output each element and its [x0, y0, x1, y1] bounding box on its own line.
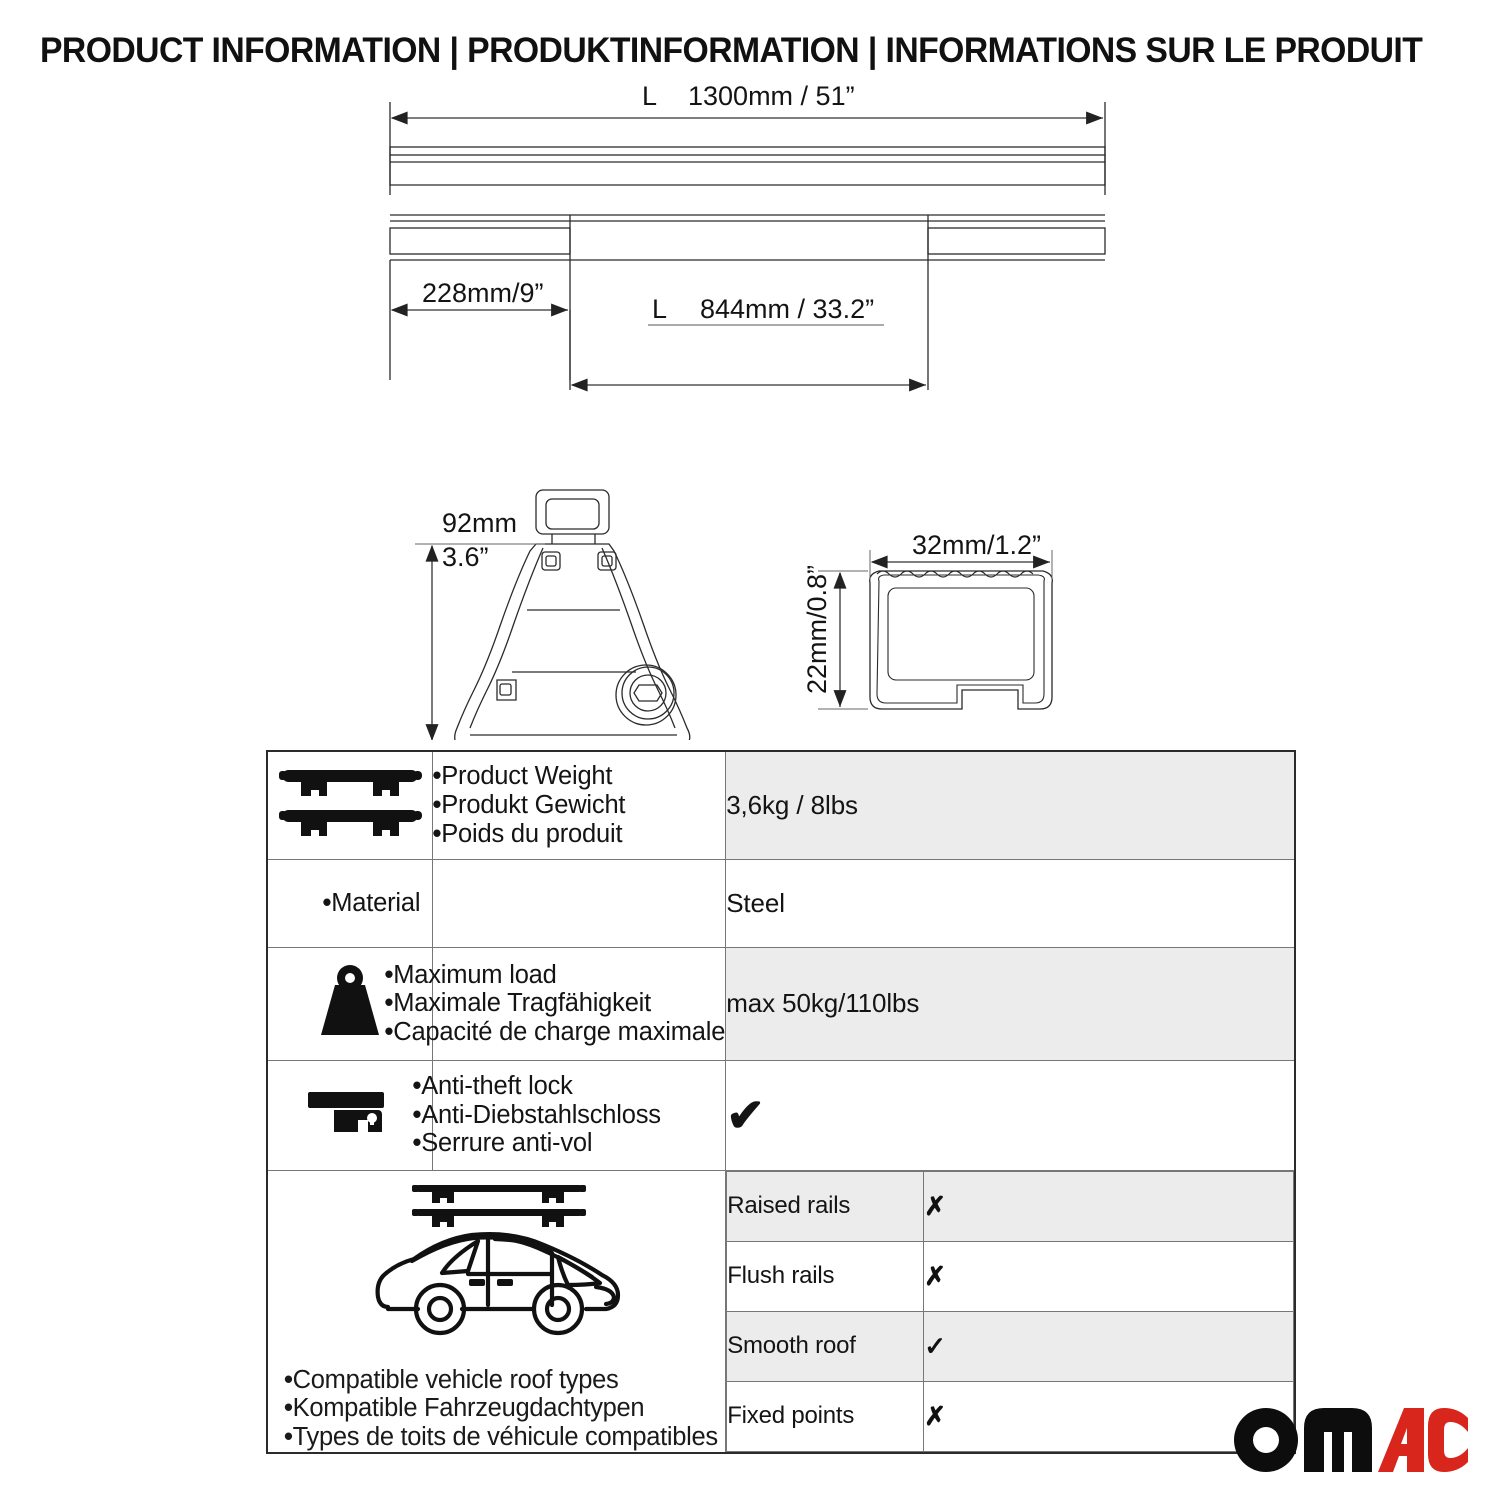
label-fr: Poids du produit — [441, 820, 622, 848]
dim-bar-length: 1300mm / 51” — [688, 81, 855, 111]
dim-span: 844mm / 33.2” — [700, 294, 874, 324]
label-en: Maximum load — [393, 961, 556, 989]
roof-type-row: Flush rails ✗ — [727, 1241, 1294, 1311]
label-de: Kompatible Fahrzeugdachtypen — [293, 1394, 645, 1422]
roof-type-subtable: Raised rails ✗ Flush rails ✗ Smooth roof… — [726, 1171, 1294, 1452]
product-weight-value: 3,6kg / 8lbs — [726, 751, 1295, 859]
label-fr: Capacité de charge maximale — [393, 1018, 725, 1046]
omac-logo-mark — [1232, 1404, 1470, 1476]
check-icon: ✔ — [726, 1089, 764, 1141]
table-row: •Compatible vehicle roof types •Kompatib… — [267, 1170, 1295, 1453]
anti-theft-labels: •Anti-theft lock •Anti-Diebstahlschloss … — [432, 1060, 726, 1170]
omac-logo — [1232, 1404, 1470, 1476]
car-with-roof-bars-icon — [356, 1334, 638, 1351]
roof-type-row: Fixed points ✗ — [727, 1381, 1294, 1451]
anti-theft-value: ✔ — [726, 1060, 1295, 1170]
roof-type-name: Flush rails — [727, 1241, 924, 1311]
roof-type-row: Raised rails ✗ — [727, 1171, 1294, 1241]
label-de: Produkt Gewicht — [441, 791, 625, 819]
label-fr: Types de toits de véhicule compatibles — [293, 1423, 718, 1451]
table-row: •Product Weight •Produkt Gewicht •Poids … — [267, 751, 1295, 859]
label-en: Material — [331, 889, 420, 917]
compat-left-cell: •Compatible vehicle roof types •Kompatib… — [267, 1170, 726, 1453]
page-title: PRODUCT INFORMATION | PRODUKTINFORMATION… — [40, 30, 1422, 71]
product-weight-icon-cell — [267, 751, 432, 859]
product-spec-table: •Product Weight •Produkt Gewicht •Poids … — [266, 750, 1296, 1454]
material-value: Steel — [726, 859, 1295, 947]
max-load-value: max 50kg/110lbs — [726, 947, 1295, 1060]
max-load-labels: •Maximum load •Maximale Tragfähigkeit •C… — [432, 947, 726, 1060]
label-de: Anti-Diebstahlschloss — [421, 1101, 661, 1129]
roof-type-name: Smooth roof — [727, 1311, 924, 1381]
weight-icon — [313, 1026, 387, 1043]
compat-icon-wrap — [268, 1171, 725, 1362]
lock-icon — [304, 1131, 396, 1148]
label-fr: Serrure anti-vol — [421, 1129, 592, 1157]
dim-profile-height: 22mm/0.8” — [802, 565, 832, 694]
anti-theft-icon-cell — [267, 1060, 432, 1170]
compat-options-cell: Raised rails ✗ Flush rails ✗ Smooth roof… — [726, 1170, 1295, 1453]
two-roof-bars-icon — [275, 829, 425, 846]
roof-type-mark: ✗ — [924, 1241, 1294, 1311]
product-weight-labels: •Product Weight •Produkt Gewicht •Poids … — [432, 751, 726, 859]
page-header: PRODUCT INFORMATION | PRODUKTINFORMATION… — [40, 26, 1470, 74]
dim-foot-height-mm: 92mm — [442, 508, 517, 538]
dim-foot-offset: 228mm/9” — [422, 278, 544, 308]
roof-type-row: Smooth roof ✓ — [727, 1311, 1294, 1381]
label-en: Product Weight — [441, 762, 612, 790]
dim-foot-height-in: 3.6” — [442, 542, 489, 572]
roof-type-mark: ✓ — [924, 1311, 1294, 1381]
table-row: •Anti-theft lock •Anti-Diebstahlschloss … — [267, 1060, 1295, 1170]
dim-bar-length-prefix: L — [642, 81, 657, 111]
compat-labels: •Compatible vehicle roof types •Kompatib… — [268, 1366, 725, 1450]
table-row: •Maximum load •Maximale Tragfähigkeit •C… — [267, 947, 1295, 1060]
label-en: Compatible vehicle roof types — [293, 1366, 619, 1394]
roof-type-mark: ✗ — [924, 1171, 1294, 1241]
technical-drawing: L 1300mm / 51” 228mm/9” L 844mm / 33.2” … — [0, 80, 1500, 740]
roof-type-name: Raised rails — [727, 1171, 924, 1241]
label-en: Anti-theft lock — [421, 1072, 572, 1100]
dim-span-prefix: L — [652, 294, 667, 324]
table-row: •Material Steel — [267, 859, 1295, 947]
roof-type-name: Fixed points — [727, 1381, 924, 1451]
material-labels: •Material — [432, 859, 726, 947]
dim-profile-width: 32mm/1.2” — [912, 530, 1041, 560]
label-de: Maximale Tragfähigkeit — [393, 989, 651, 1017]
